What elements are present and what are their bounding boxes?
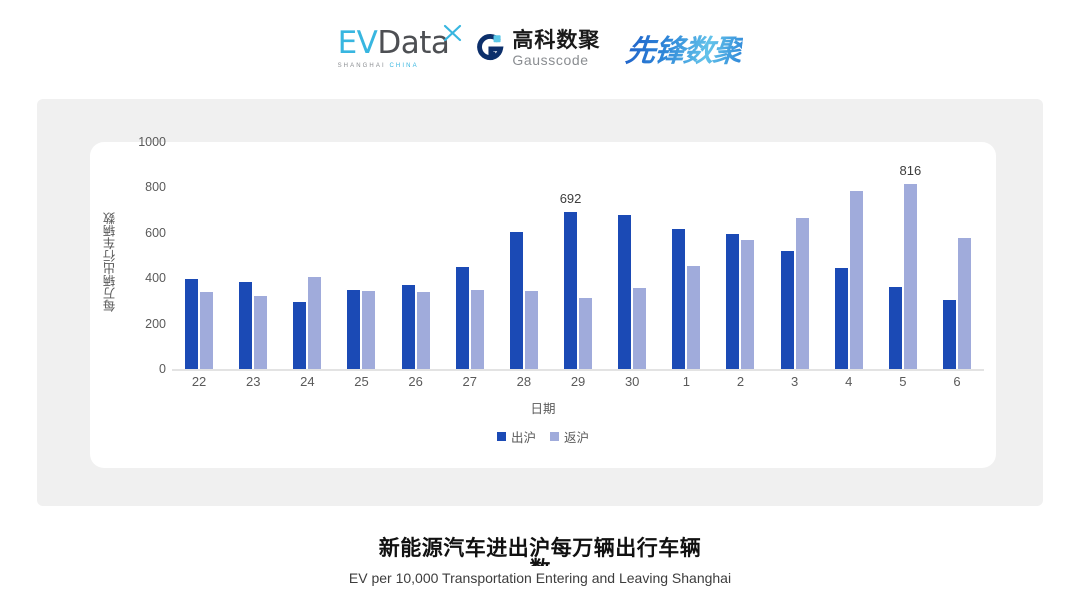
- evdata-tagline-city: SHANGHAI: [338, 63, 386, 69]
- x-axis-tick: 5: [876, 374, 930, 389]
- bar-group: [226, 142, 280, 369]
- bar[interactable]: [672, 229, 685, 369]
- bar[interactable]: [362, 291, 375, 369]
- bar[interactable]: [347, 290, 360, 369]
- x-axis-tick: 22: [172, 374, 226, 389]
- x-axis-tick: 2: [713, 374, 767, 389]
- bar-group: [930, 142, 984, 369]
- bar-group: [605, 142, 659, 369]
- bar-group: [822, 142, 876, 369]
- legend-label: 出沪: [511, 427, 536, 446]
- bar[interactable]: [308, 277, 321, 369]
- bar-groups: 692816: [172, 142, 984, 369]
- legend-swatch: [497, 432, 506, 441]
- bar[interactable]: [741, 240, 754, 369]
- y-axis-tick: 1000: [138, 135, 166, 149]
- bar[interactable]: [943, 300, 956, 369]
- x-spark-icon: [443, 23, 463, 43]
- x-axis-tick: 26: [389, 374, 443, 389]
- x-axis-tick: 3: [768, 374, 822, 389]
- bar[interactable]: [185, 279, 198, 369]
- bar-group: [280, 142, 334, 369]
- logo-strip: EVData SHANGHAI CHINA 高科数聚 Gausscode: [0, 0, 1080, 96]
- bar-group: 692: [551, 142, 605, 369]
- x-axis-tick: 29: [551, 374, 605, 389]
- y-axis-tick: 200: [145, 317, 166, 331]
- x-axis-line: [172, 369, 984, 371]
- bar[interactable]: [239, 282, 252, 369]
- caption-english: EV per 10,000 Transportation Entering an…: [0, 570, 1080, 586]
- x-axis-tick: 1: [659, 374, 713, 389]
- bar-group: [659, 142, 713, 369]
- logo-gausscode: 高科数聚 Gausscode: [475, 30, 600, 67]
- evdata-tagline: SHANGHAI CHINA: [338, 63, 419, 69]
- bar[interactable]: 816: [904, 184, 917, 369]
- legend-item[interactable]: 出沪: [497, 427, 536, 446]
- gausscode-mark-icon: [475, 33, 505, 63]
- x-axis-tick: 25: [334, 374, 388, 389]
- plot-area: 692816: [172, 142, 984, 369]
- logo-xianfeng: 先锋数聚: [626, 26, 742, 70]
- gausscode-en: Gausscode: [512, 53, 600, 67]
- bar-value-label: 816: [900, 163, 922, 178]
- y-axis-title: 每万辆出行车辆数: [100, 182, 120, 342]
- bar-group: [497, 142, 551, 369]
- bar-group: 816: [876, 142, 930, 369]
- legend-item[interactable]: 返沪: [550, 427, 589, 446]
- chart-card: 每万辆出行车辆数 02004006008001000 692816 222324…: [90, 142, 996, 468]
- xianfeng-wordmark: 先锋数聚: [624, 26, 745, 70]
- bar[interactable]: [889, 287, 902, 369]
- bar[interactable]: [796, 218, 809, 369]
- bar-group: [389, 142, 443, 369]
- gausscode-wordmark: 高科数聚 Gausscode: [512, 30, 600, 67]
- logo-evdata: EVData SHANGHAI CHINA: [338, 28, 450, 69]
- bar[interactable]: [417, 292, 430, 369]
- bar[interactable]: [293, 302, 306, 369]
- bar-group: [713, 142, 767, 369]
- x-axis-tick: 6: [930, 374, 984, 389]
- bar[interactable]: [510, 232, 523, 369]
- bar[interactable]: [402, 285, 415, 369]
- evdata-prefix: EV: [338, 28, 378, 59]
- y-axis-tick: 600: [145, 226, 166, 240]
- evdata-suffix: Data: [377, 28, 449, 59]
- bar[interactable]: [254, 296, 267, 369]
- bar-value-label: 692: [560, 191, 582, 206]
- bar[interactable]: [633, 288, 646, 369]
- bar-group: [443, 142, 497, 369]
- bar[interactable]: [781, 251, 794, 369]
- bar-chart: 每万辆出行车辆数 02004006008001000 692816 222324…: [90, 142, 996, 468]
- bar[interactable]: [726, 234, 739, 369]
- caption-chinese-overflow: 数: [0, 553, 1080, 566]
- x-axis-tick: 28: [497, 374, 551, 389]
- bar-group: [768, 142, 822, 369]
- y-axis-tick: 0: [159, 362, 166, 376]
- bar[interactable]: 692: [564, 212, 577, 369]
- gausscode-cn: 高科数聚: [512, 30, 600, 51]
- bar[interactable]: [835, 268, 848, 369]
- x-axis-title: 日期: [90, 398, 996, 417]
- bar[interactable]: [687, 266, 700, 369]
- slide-root: EVData SHANGHAI CHINA 高科数聚 Gausscode: [0, 0, 1080, 608]
- chart-legend: 出沪返沪: [90, 427, 996, 446]
- x-axis-tick: 30: [605, 374, 659, 389]
- x-axis-tick: 24: [280, 374, 334, 389]
- bar-group: [172, 142, 226, 369]
- y-axis-ticks: 02004006008001000: [120, 142, 172, 382]
- bar[interactable]: [471, 290, 484, 369]
- bar[interactable]: [456, 267, 469, 369]
- evdata-wordmark: EVData: [338, 28, 450, 59]
- x-axis-ticks: 222324252627282930123456: [172, 374, 984, 389]
- x-axis-tick: 23: [226, 374, 280, 389]
- legend-swatch: [550, 432, 559, 441]
- bar[interactable]: [850, 191, 863, 369]
- x-axis-tick: 27: [443, 374, 497, 389]
- bar[interactable]: [200, 292, 213, 369]
- bar[interactable]: [525, 291, 538, 369]
- bar-group: [334, 142, 388, 369]
- legend-label: 返沪: [564, 427, 589, 446]
- bar[interactable]: [958, 238, 971, 369]
- y-axis-tick: 400: [145, 271, 166, 285]
- bar[interactable]: [579, 298, 592, 370]
- x-axis-tick: 4: [822, 374, 876, 389]
- y-axis-tick: 800: [145, 180, 166, 194]
- evdata-tagline-country: CHINA: [390, 63, 419, 69]
- bar[interactable]: [618, 215, 631, 369]
